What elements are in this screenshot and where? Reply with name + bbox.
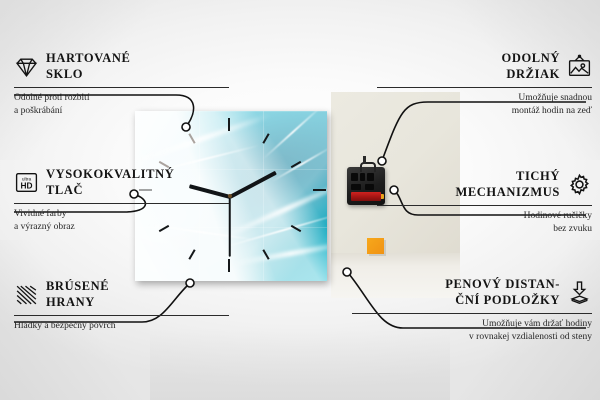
feature-desc-line1: Umožňuje snadnou xyxy=(377,92,592,105)
picture-hanger-icon xyxy=(567,54,592,79)
mechanism-detail xyxy=(365,184,374,190)
clock-tick xyxy=(313,189,326,191)
clock-tick xyxy=(228,259,230,272)
feature-durable-hanger[interactable]: ODOLNÝ DRŽIAK Umožňuje snadnou montáž ho… xyxy=(377,50,592,118)
feature-title-line1: BRÚSENÉ xyxy=(46,278,109,294)
feature-desc-line2: a výrazný obraz xyxy=(14,221,229,234)
feature-title-line2: MECHANIZMUS xyxy=(455,184,560,200)
feature-title-line1: VYSOKOKVALITNÝ xyxy=(46,166,174,182)
diamond-icon xyxy=(14,54,39,79)
feature-title-line1: ODOLNÝ xyxy=(502,50,560,66)
clock-tick xyxy=(228,118,230,131)
feature-divider xyxy=(14,87,229,88)
feature-desc-line2: bez zvuku xyxy=(377,223,592,236)
feature-title-line2: TLAČ xyxy=(46,182,174,198)
feature-desc-line1: Odolné proti rozbití xyxy=(14,92,229,105)
feature-title-line1: TICHÝ xyxy=(455,168,560,184)
feature-desc-line1: Vividné farby xyxy=(14,208,229,221)
press-down-pad-icon xyxy=(567,280,592,305)
feature-divider xyxy=(377,205,592,206)
clock-second-hand xyxy=(229,197,231,257)
mechanism-detail xyxy=(351,184,361,190)
feature-desc-line2: a poškrábání xyxy=(14,105,229,118)
feature-high-quality-print[interactable]: ultra HD VYSOKOKVALITNÝ TLAČ Vividné far… xyxy=(14,166,229,234)
product-infographic: HARTOVANÉ SKLO Odolné proti rozbití a po… xyxy=(0,0,600,400)
svg-text:HD: HD xyxy=(20,180,32,190)
foam-spacer-pad xyxy=(367,238,384,254)
feature-title-line1: HARTOVANÉ xyxy=(46,50,130,66)
mechanism-detail xyxy=(360,173,365,181)
feature-polished-edges[interactable]: BRÚSENÉ HRANY Hladký a bezpečný povrch xyxy=(14,278,229,333)
feature-desc-line1: Hladký a bezpečný povrch xyxy=(14,320,229,333)
mechanism-shaft xyxy=(363,156,366,164)
feature-title-line1: PENOVÝ DISTAN- xyxy=(445,276,560,292)
feature-desc-line1: Umožňuje vám držať hodiny xyxy=(352,318,592,331)
feature-title-line2: SKLO xyxy=(46,66,130,82)
feature-title-line2: ČNÍ PODLOŽKY xyxy=(445,292,560,308)
mechanism-detail xyxy=(367,173,374,181)
feature-divider xyxy=(352,313,592,314)
ultra-hd-icon: ultra HD xyxy=(14,170,39,195)
feature-tempered-glass[interactable]: HARTOVANÉ SKLO Odolné proti rozbití a po… xyxy=(14,50,229,118)
mechanism-detail xyxy=(351,173,358,181)
feature-divider xyxy=(14,203,229,204)
feature-foam-spacers[interactable]: PENOVÝ DISTAN- ČNÍ PODLOŽKY Umožňuje vám… xyxy=(352,276,592,344)
feature-desc-line2: v rovnakej vzdialenosti od steny xyxy=(352,331,592,344)
feature-silent-mechanism[interactable]: TICHÝ MECHANIZMUS Hodinové ručičky bez z… xyxy=(377,168,592,236)
feature-divider xyxy=(14,315,229,316)
brushed-edge-icon xyxy=(14,282,39,307)
feature-title-line2: HRANY xyxy=(46,294,109,310)
feature-title-line2: DRŽIAK xyxy=(502,66,560,82)
gear-icon xyxy=(567,172,592,197)
feature-divider xyxy=(377,87,592,88)
feature-desc-line2: montáž hodin na zeď xyxy=(377,105,592,118)
feature-desc-line1: Hodinové ručičky xyxy=(377,210,592,223)
